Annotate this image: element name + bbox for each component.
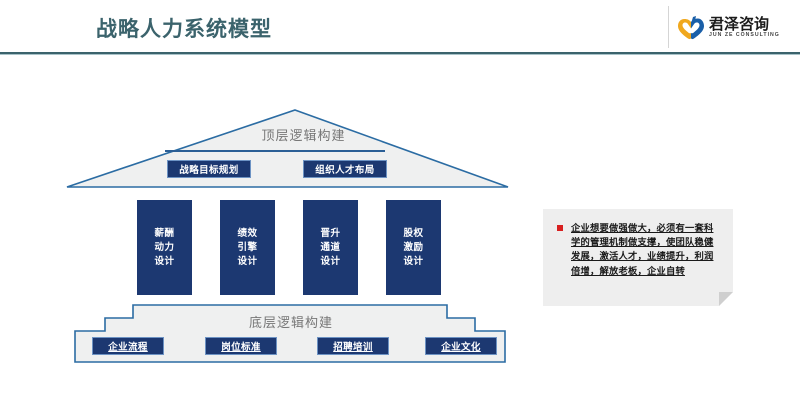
pillar-line: 设计 bbox=[403, 255, 423, 269]
logo-name-en: JUN ZE CONSULTING bbox=[709, 33, 780, 38]
base-stepped-shape bbox=[55, 300, 525, 370]
base-box-culture[interactable]: 企业文化 bbox=[425, 337, 497, 355]
pillar-line: 晋升 bbox=[320, 227, 340, 241]
roof-box-strategy-goal[interactable]: 战略目标规划 bbox=[167, 160, 251, 178]
base-section-title: 底层逻辑构建 bbox=[55, 312, 525, 331]
base-box-process[interactable]: 企业流程 bbox=[92, 337, 164, 355]
pillar-line: 设计 bbox=[237, 255, 257, 269]
note-text: 企业想要做强做大，必须有一套科学的管理机制做支撑，使团队稳健发展，激活人才，业绩… bbox=[571, 221, 722, 278]
note-body: 企业想要做强做大，必须有一套科学的管理机制做支撑，使团队稳健发展，激活人才，业绩… bbox=[557, 221, 722, 278]
page-title: 战略人力系统模型 bbox=[96, 13, 272, 43]
pillar-line: 激励 bbox=[403, 241, 423, 255]
pillar-line: 设计 bbox=[320, 255, 340, 269]
pillar-line: 引擎 bbox=[237, 241, 257, 255]
temple-diagram: 顶层逻辑构建 战略目标规划 组织人才布局 薪酬 动力 设计 绩效 引擎 设计 晋… bbox=[55, 100, 525, 370]
base-box-job-standard[interactable]: 岗位标准 bbox=[205, 337, 277, 355]
pillar-line: 薪酬 bbox=[154, 227, 174, 241]
pillar-performance[interactable]: 绩效 引擎 设计 bbox=[220, 200, 275, 295]
base-box-recruit-train[interactable]: 招聘培训 bbox=[317, 337, 389, 355]
pillar-promotion[interactable]: 晋升 通道 设计 bbox=[303, 200, 358, 295]
pillar-compensation[interactable]: 薪酬 动力 设计 bbox=[137, 200, 192, 295]
roof-title-underline bbox=[165, 150, 385, 152]
heart-logo-icon bbox=[678, 16, 704, 40]
roof-box-org-talent[interactable]: 组织人才布局 bbox=[303, 160, 387, 178]
logo-name-cn: 君泽咨询 bbox=[709, 17, 780, 32]
roof-section-title: 顶层逻辑构建 bbox=[55, 125, 525, 144]
note-panel: 企业想要做强做大，必须有一套科学的管理机制做支撑，使团队稳健发展，激活人才，业绩… bbox=[543, 209, 733, 306]
slide-canvas: 战略人力系统模型 君泽咨询 JUN ZE CONSULTING 顶层逻辑构建 战… bbox=[0, 0, 800, 401]
header-divider-secondary bbox=[0, 54, 800, 55]
pillar-equity[interactable]: 股权 激励 设计 bbox=[386, 200, 441, 295]
pillar-line: 股权 bbox=[403, 227, 423, 241]
logo-separator bbox=[668, 6, 669, 48]
roof-pediment-shape bbox=[55, 100, 525, 192]
logo-wordmark: 君泽咨询 JUN ZE CONSULTING bbox=[709, 17, 780, 38]
pillar-line: 绩效 bbox=[237, 227, 257, 241]
pillar-line: 动力 bbox=[154, 241, 174, 255]
bullet-square-icon bbox=[557, 225, 563, 231]
pillar-line: 通道 bbox=[320, 241, 340, 255]
slide-header: 战略人力系统模型 君泽咨询 JUN ZE CONSULTING bbox=[0, 0, 800, 54]
pillar-line: 设计 bbox=[154, 255, 174, 269]
brand-logo: 君泽咨询 JUN ZE CONSULTING bbox=[678, 13, 786, 43]
